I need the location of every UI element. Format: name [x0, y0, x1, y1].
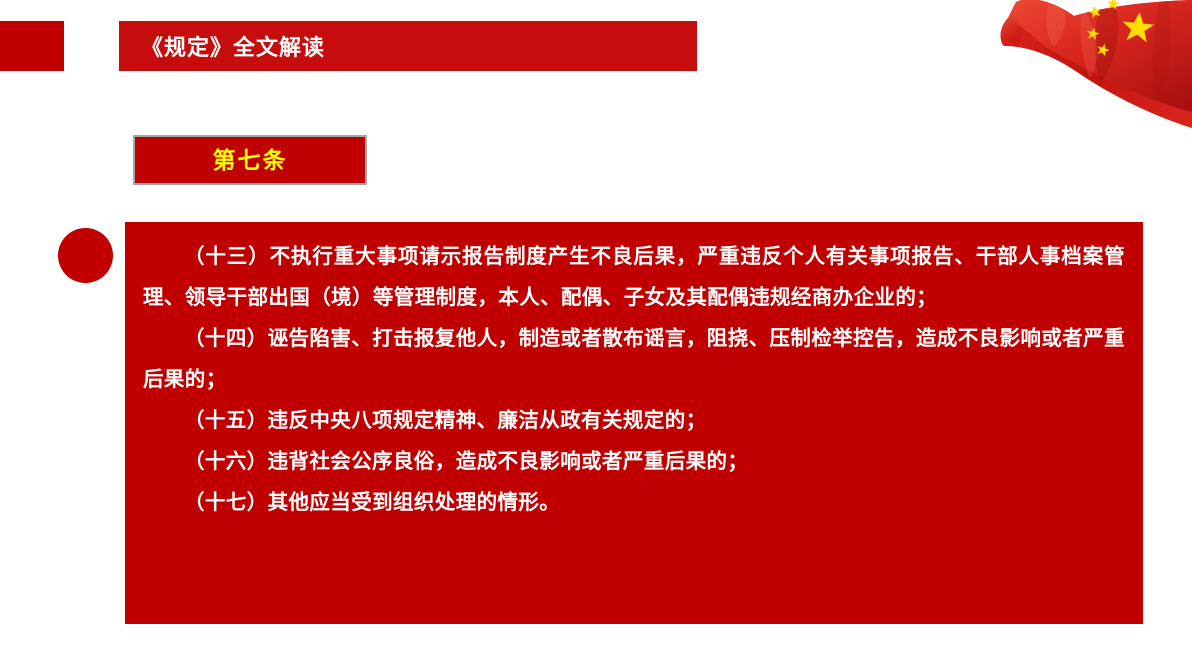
header-accent-block: [0, 21, 64, 71]
header-bar: 《规定》全文解读: [119, 21, 697, 71]
clause-item: （十三）不执行重大事项请示报告制度产生不良后果，严重违反个人有关事项报告、干部人…: [143, 236, 1125, 318]
page-title: 《规定》全文解读: [119, 30, 325, 62]
clause-item: （十五）违反中央八项规定精神、廉洁从政有关规定的；: [143, 400, 1125, 441]
article-badge-label: 第七条: [213, 149, 288, 172]
filled-circle-bullet-icon: [58, 228, 113, 283]
clause-item: （十六）违背社会公序良俗，造成不良影响或者严重后果的；: [143, 441, 1125, 482]
slide-canvas: 《规定》全文解读: [0, 0, 1192, 669]
clause-content-panel: （十三）不执行重大事项请示报告制度产生不良后果，严重违反个人有关事项报告、干部人…: [125, 222, 1143, 624]
clause-list: （十三）不执行重大事项请示报告制度产生不良后果，严重违反个人有关事项报告、干部人…: [143, 236, 1125, 523]
article-badge: 第七条: [133, 135, 367, 185]
china-flag-waving-icon: [962, 0, 1192, 140]
flag-stars-icon: [1086, 0, 1156, 57]
clause-item: （十七）其他应当受到组织处理的情形。: [143, 482, 1125, 523]
clause-item: （十四）诬告陷害、打击报复他人，制造或者散布谣言，阻挠、压制检举控告，造成不良影…: [143, 318, 1125, 400]
